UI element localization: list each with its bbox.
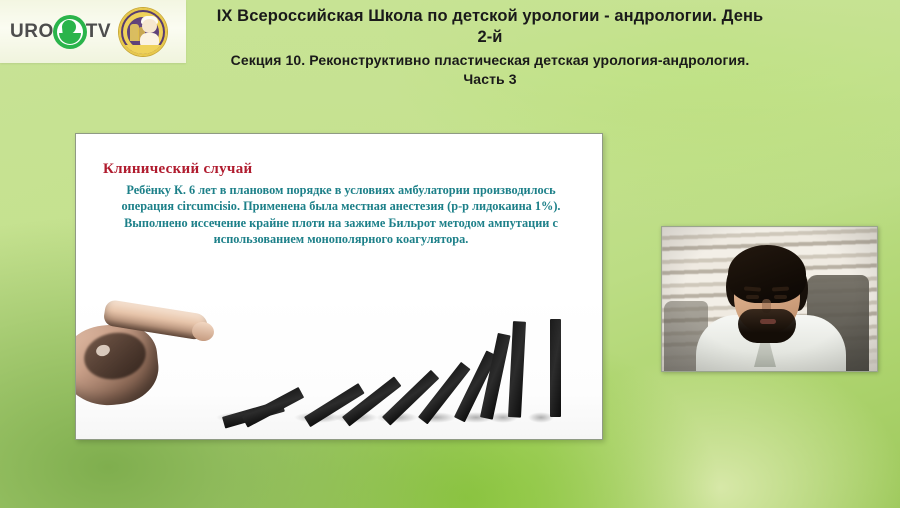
domino-tile [508,321,526,418]
page-subtitle: Секция 10. Реконструктивно пластическая … [210,51,770,89]
domino-photo [76,291,602,439]
header-titles: IX Всероссийская Школа по детской уролог… [210,6,770,89]
domino-tile [242,387,304,428]
presentation-slide[interactable]: Клинический случай Ребёнку К. 6 лет в пл… [75,133,603,440]
pointing-hand-icon [76,299,212,411]
logo-band: URO TV [0,0,186,63]
uro-leaf-circle-logo-icon [53,15,87,49]
slide-body-text: Ребёнку К. 6 лет в плановом порядке в ус… [102,182,580,248]
speaker-video-tile[interactable] [661,226,878,372]
page-title: IX Всероссийская Школа по детской уролог… [210,6,770,48]
urotv-logo-text-left: URO [10,21,54,43]
slide-heading: Клинический случай [103,161,252,178]
urotv-logo: URO TV [10,15,111,49]
slide-content: Клинический случай Ребёнку К. 6 лет в пл… [76,134,602,439]
domino-tile [550,319,561,417]
urotv-logo-text-right: TV [86,21,111,43]
russian-pediatric-urology-emblem-icon [119,8,167,56]
video-vignette [662,227,877,371]
webinar-screen: URO TV IX Всероссийская Школа по детской… [0,0,900,508]
